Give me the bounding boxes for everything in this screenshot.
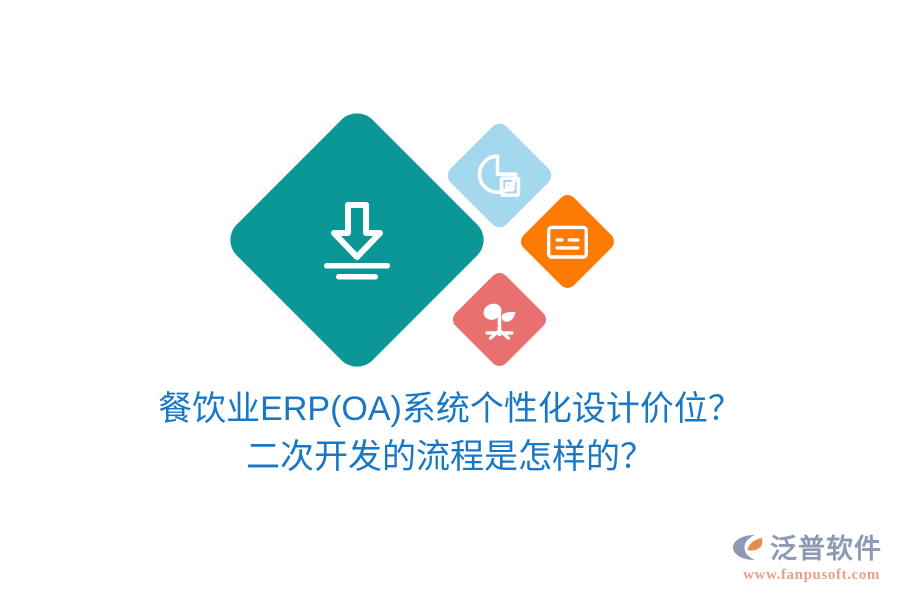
- download-icon: [318, 199, 396, 281]
- watermark-brand-row: 泛普软件: [731, 532, 882, 567]
- sprout-icon: [478, 298, 522, 342]
- diamond-main: [221, 104, 493, 376]
- diamond-card: [517, 191, 617, 291]
- watermark-brand-text: 泛普软件: [770, 535, 882, 565]
- pie-chart-icon: [477, 153, 523, 199]
- diamond-growth: [449, 269, 549, 369]
- id-card-icon: [547, 225, 589, 259]
- hero-graphic: [0, 0, 900, 400]
- poster-canvas: 餐饮业ERP(OA)系统个性化设计价位？ 二次开发的流程是怎样的？ 泛普软件 w…: [0, 0, 900, 600]
- page-title-line-1: 餐饮业ERP(OA)系统个性化设计价位？: [0, 385, 900, 433]
- page-title-line-2: 二次开发的流程是怎样的？: [0, 433, 900, 481]
- watermark: 泛普软件 www.fanpusoft.com: [731, 532, 882, 584]
- page-title: 餐饮业ERP(OA)系统个性化设计价位？ 二次开发的流程是怎样的？: [0, 385, 900, 481]
- watermark-url-text: www.fanpusoft.com: [743, 566, 880, 584]
- fanpu-logo-icon: [731, 532, 765, 567]
